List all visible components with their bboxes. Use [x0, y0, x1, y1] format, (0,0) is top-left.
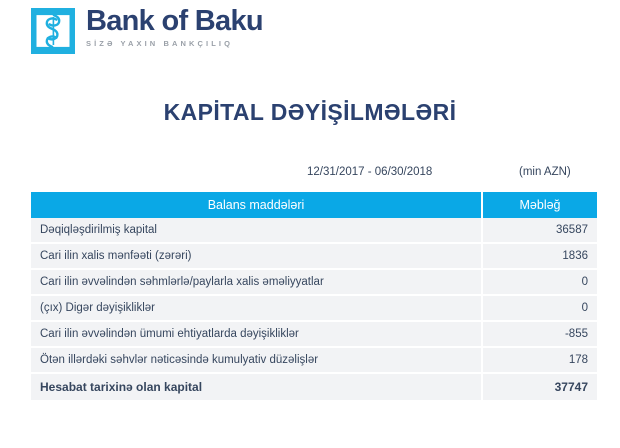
brand-name: Bank of Baku: [86, 6, 263, 36]
table-row: Cari ilin əvvəlindən səhmlərlə/paylarla …: [31, 269, 597, 295]
row-value: -855: [482, 321, 597, 347]
row-label: Cari ilin əvvəlindən səhmlərlə/paylarla …: [31, 269, 482, 295]
currency-unit: (min AZN): [519, 166, 571, 178]
column-header-balance-items: Balans maddələri: [31, 192, 482, 218]
bank-of-baku-logo-icon: [30, 7, 76, 55]
row-value: 0: [482, 269, 597, 295]
row-value: 1836: [482, 243, 597, 269]
table-header: Balans maddələri Məbləğ: [31, 192, 597, 218]
table-row: Ötən illərdəki səhvlər nəticəsində kumul…: [31, 347, 597, 373]
row-label: Cari ilin əvvəlindən ümumi ehtiyatlarda …: [31, 321, 482, 347]
row-label: Hesabat tarixinə olan kapital: [31, 373, 482, 400]
brand-tagline: SİZƏ YAXIN BANKÇILIQ: [86, 39, 263, 48]
table-row: Cari ilin əvvəlindən ümumi ehtiyatlarda …: [31, 321, 597, 347]
table-row: Dəqiqləşdirilmiş kapital 36587: [31, 218, 597, 243]
reporting-period: 12/31/2017 - 06/30/2018: [307, 166, 432, 178]
table-row-total: Hesabat tarixinə olan kapital 37747: [31, 373, 597, 400]
table-row: Cari ilin xalis mənfəəti (zərəri) 1836: [31, 243, 597, 269]
table-row: (çıx) Digər dəyişikliklər 0: [31, 295, 597, 321]
row-label: (çıx) Digər dəyişikliklər: [31, 295, 482, 321]
column-header-amount: Məbləğ: [482, 192, 597, 218]
row-value: 36587: [482, 218, 597, 243]
row-label: Dəqiqləşdirilmiş kapital: [31, 218, 482, 243]
table-body: Dəqiqləşdirilmiş kapital 36587 Cari ilin…: [31, 218, 597, 400]
page-title: KAPİTAL DƏYİŞİLMƏLƏRİ: [0, 99, 620, 126]
brand-wordmark: Bank of Baku SİZƏ YAXIN BANKÇILIQ: [86, 6, 263, 48]
row-label: Ötən illərdəki səhvlər nəticəsində kumul…: [31, 347, 482, 373]
table-header-row: Balans maddələri Məbləğ: [31, 192, 597, 218]
brand-header: Bank of Baku SİZƏ YAXIN BANKÇILIQ: [30, 6, 263, 55]
row-value: 37747: [482, 373, 597, 400]
report-meta: 12/31/2017 - 06/30/2018 (min AZN): [31, 166, 597, 182]
row-label: Cari ilin xalis mənfəəti (zərəri): [31, 243, 482, 269]
row-value: 0: [482, 295, 597, 321]
capital-changes-table: Balans maddələri Məbləğ Dəqiqləşdirilmiş…: [31, 192, 597, 400]
row-value: 178: [482, 347, 597, 373]
